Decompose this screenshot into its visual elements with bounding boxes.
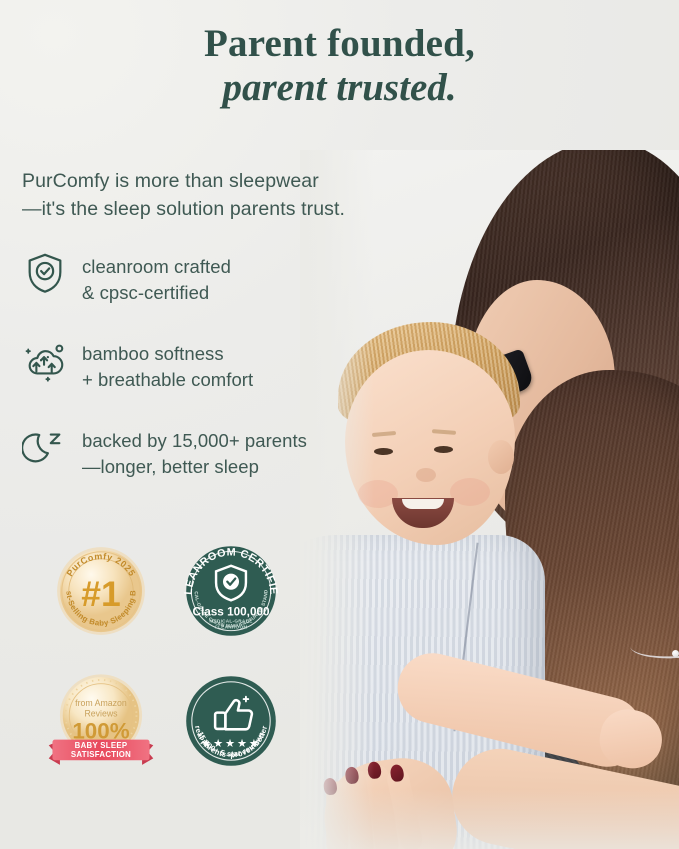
feature-item-bamboo: bamboo softness + breathable comfort bbox=[22, 337, 362, 392]
trust-badge-grid: PurComfy 2025 Best-Selling Baby Sleeping… bbox=[42, 535, 292, 777]
feature-line-2: & cpsc-certified bbox=[82, 280, 231, 306]
feature-line-2: + breathable comfort bbox=[82, 367, 253, 393]
moon-sleep-icon bbox=[22, 424, 68, 472]
feature-text-bamboo: bamboo softness + breathable comfort bbox=[82, 337, 253, 392]
award-ribbon: BABY SLEEP SATISFACTION bbox=[49, 740, 154, 765]
reviews-proven-badge: 15,000+ 5 star reviews real parents–prov… bbox=[172, 665, 290, 777]
advertisement-canvas: Parent founded, parent trusted. PurComfy… bbox=[0, 0, 679, 849]
headline-line-1: Parent founded, bbox=[0, 22, 679, 66]
star-rating: ★★★★★ bbox=[201, 737, 260, 750]
amazon-satisfaction-badge: from Amazon Reviews 100% BABY SLEEP SATI… bbox=[42, 665, 160, 777]
headline-line-2: parent trusted. bbox=[0, 66, 679, 110]
page-title: Parent founded, parent trusted. bbox=[0, 22, 679, 109]
ribbon-line-2: SATISFACTION bbox=[71, 750, 131, 759]
feature-line-1: bamboo softness bbox=[82, 341, 253, 367]
badge-center-value: #1 bbox=[81, 574, 120, 614]
badge-sub-line-2: CLEANROOM bbox=[214, 624, 247, 629]
badge-top-line-1: from Amazon bbox=[75, 698, 127, 708]
badge-sub-line-1: MEDICAL-GRADE bbox=[209, 619, 252, 624]
best-seller-badge: PurComfy 2025 Best-Selling Baby Sleeping… bbox=[42, 535, 160, 647]
badge-class-value: Class 100,000 bbox=[192, 605, 270, 618]
feature-text-cleanroom: cleanroom crafted & cpsc-certified bbox=[82, 250, 231, 305]
feature-list: cleanroom crafted & cpsc-certified bbox=[22, 250, 362, 511]
bamboo-growth-icon bbox=[22, 337, 68, 385]
feature-line-1: backed by 15,000+ parents bbox=[82, 428, 307, 454]
feature-item-sleep: backed by 15,000+ parents —longer, bette… bbox=[22, 424, 362, 479]
feature-text-sleep: backed by 15,000+ parents —longer, bette… bbox=[82, 424, 307, 479]
subheadline: PurComfy is more than sleepwear —it's th… bbox=[22, 168, 422, 223]
feature-line-1: cleanroom crafted bbox=[82, 254, 231, 280]
ribbon-line-1: BABY SLEEP bbox=[75, 741, 128, 750]
photo-bottom-fade bbox=[300, 789, 679, 849]
subheadline-line-2: —it's the sleep solution parents trust. bbox=[22, 196, 422, 224]
badge-top-line-2: Reviews bbox=[84, 708, 118, 718]
feature-item-cleanroom: cleanroom crafted & cpsc-certified bbox=[22, 250, 362, 305]
subheadline-line-1: PurComfy is more than sleepwear bbox=[22, 168, 422, 196]
cleanroom-certified-badge: CLEANROOM CERTIFIED MEDICAL-GRADE CLEAN … bbox=[172, 535, 290, 647]
feature-line-2: —longer, better sleep bbox=[82, 454, 307, 480]
shield-check-icon bbox=[22, 250, 68, 298]
